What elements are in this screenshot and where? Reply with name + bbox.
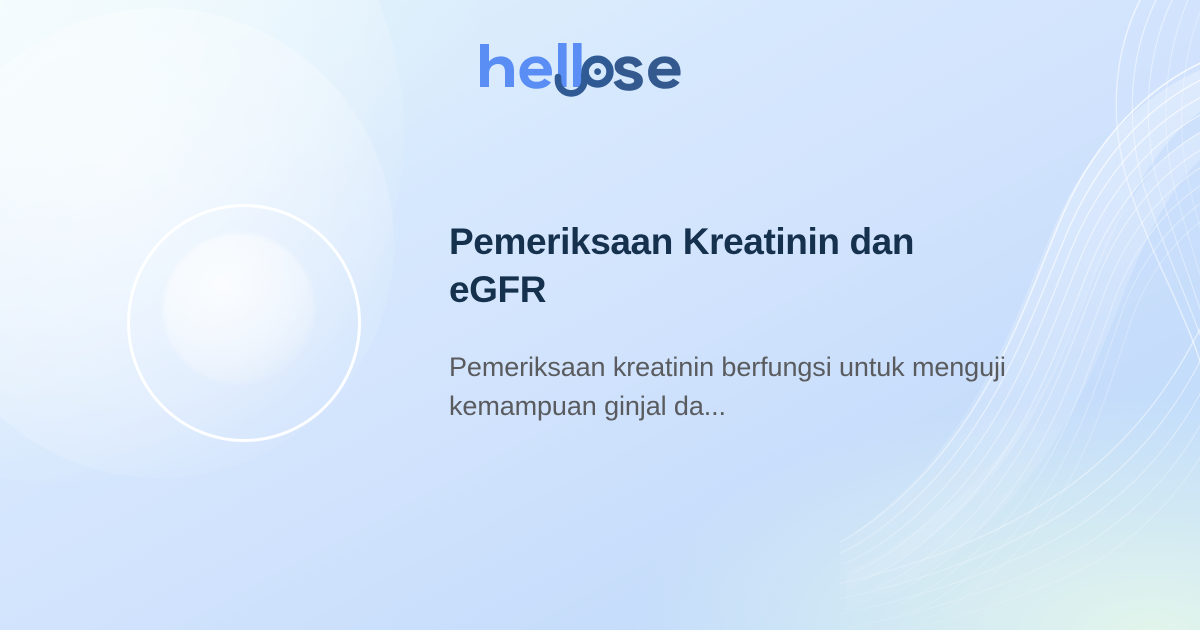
inner-glow-circle-icon bbox=[163, 233, 315, 385]
mid-glow-circle-icon bbox=[0, 8, 394, 478]
hellosehat-logo-icon bbox=[478, 40, 718, 102]
white-ring-circle-icon bbox=[127, 204, 361, 442]
outer-glow-circle-icon bbox=[0, 0, 404, 482]
hellosehat-logo[interactable] bbox=[478, 42, 718, 100]
page-title: Pemeriksaan Kreatinin dan eGFR bbox=[449, 218, 959, 314]
social-share-card: Pemeriksaan Kreatinin dan eGFR Pemeriksa… bbox=[0, 0, 1200, 630]
card-text-block: Pemeriksaan Kreatinin dan eGFR Pemeriksa… bbox=[449, 218, 1039, 425]
page-description: Pemeriksaan kreatinin berfungsi untuk me… bbox=[449, 348, 1024, 425]
